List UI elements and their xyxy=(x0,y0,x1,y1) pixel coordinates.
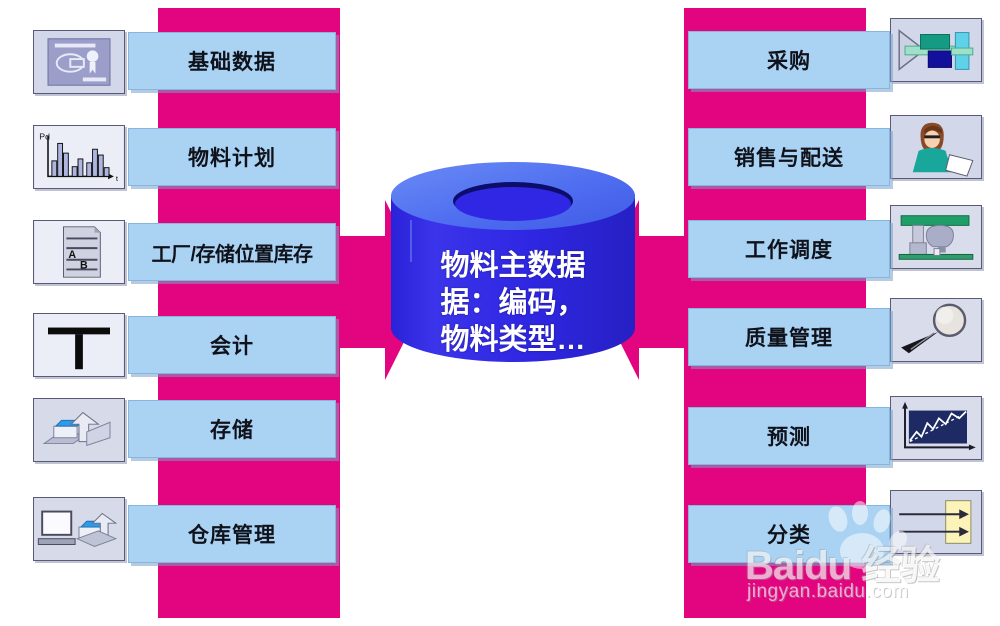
bar-right-销售与配送[interactable]: 销售与配送 xyxy=(688,128,890,186)
cylinder-label-line-2: 据：编码， xyxy=(392,285,634,322)
bar-label: 采购 xyxy=(767,45,811,75)
bar-left-存储[interactable]: 存储 xyxy=(128,400,336,458)
bar-label: 存储 xyxy=(210,414,254,444)
icon-tile-purchase-flow xyxy=(890,18,982,82)
icon-tile-trend-chart xyxy=(890,396,982,460)
bar-label: 会计 xyxy=(210,330,254,360)
bar-right-工作调度[interactable]: 工作调度 xyxy=(688,220,890,278)
icon-tile-document-design xyxy=(33,30,125,94)
bar-label: 物料计划 xyxy=(188,142,276,172)
cylinder-label-line-3: 物料类型… xyxy=(392,322,634,359)
icon-tile-classification-arrows xyxy=(890,490,982,554)
bar-right-采购[interactable]: 采购 xyxy=(688,31,890,89)
bar-label: 销售与配送 xyxy=(734,142,844,172)
cylinder-label-line-1: 物料主数据 xyxy=(392,248,634,285)
icon-tile-warehouse-shelf xyxy=(33,398,125,462)
bar-label: 预测 xyxy=(767,421,811,451)
svg-text:A: A xyxy=(68,249,76,261)
icon-tile-computer-warehouse xyxy=(33,497,125,561)
bar-left-基础数据[interactable]: 基础数据 xyxy=(128,32,336,90)
svg-text:B: B xyxy=(80,259,88,271)
bar-right-质量管理[interactable]: 质量管理 xyxy=(688,308,890,366)
icon-tile-machine-tool xyxy=(890,205,982,269)
icon-tile-storage-rack-ab: A B xyxy=(33,220,125,284)
icon-tile-magnifier xyxy=(890,298,982,362)
bar-label: 仓库管理 xyxy=(188,519,276,549)
watermark-sub-text: jingyan.baidu.com xyxy=(747,581,909,603)
bar-left-物料计划[interactable]: 物料计划 xyxy=(128,128,336,186)
icon-tile-bar-chart: Pd t xyxy=(33,125,125,189)
bar-right-分类[interactable]: 分类 xyxy=(688,505,890,563)
bar-label: 基础数据 xyxy=(188,46,276,76)
bar-label: 分类 xyxy=(767,519,811,549)
icon-tile-t-account xyxy=(33,313,125,377)
bar-right-预测[interactable]: 预测 xyxy=(688,407,890,465)
bar-left-工厂存储位置库存[interactable]: 工厂/存储位置库存 xyxy=(128,223,336,281)
cylinder-label: 物料主数据 据：编码， 物料类型… xyxy=(392,248,634,359)
bar-left-会计[interactable]: 会计 xyxy=(128,316,336,374)
diagram-canvas: 物料主数据 据：编码， 物料类型… Pd t xyxy=(0,0,1000,626)
bar-label: 工厂/存储位置库存 xyxy=(151,238,312,267)
bar-left-仓库管理[interactable]: 仓库管理 xyxy=(128,505,336,563)
icon-tile-sales-person xyxy=(890,115,982,179)
bar-label: 工作调度 xyxy=(745,234,833,264)
bar-label: 质量管理 xyxy=(745,322,833,352)
